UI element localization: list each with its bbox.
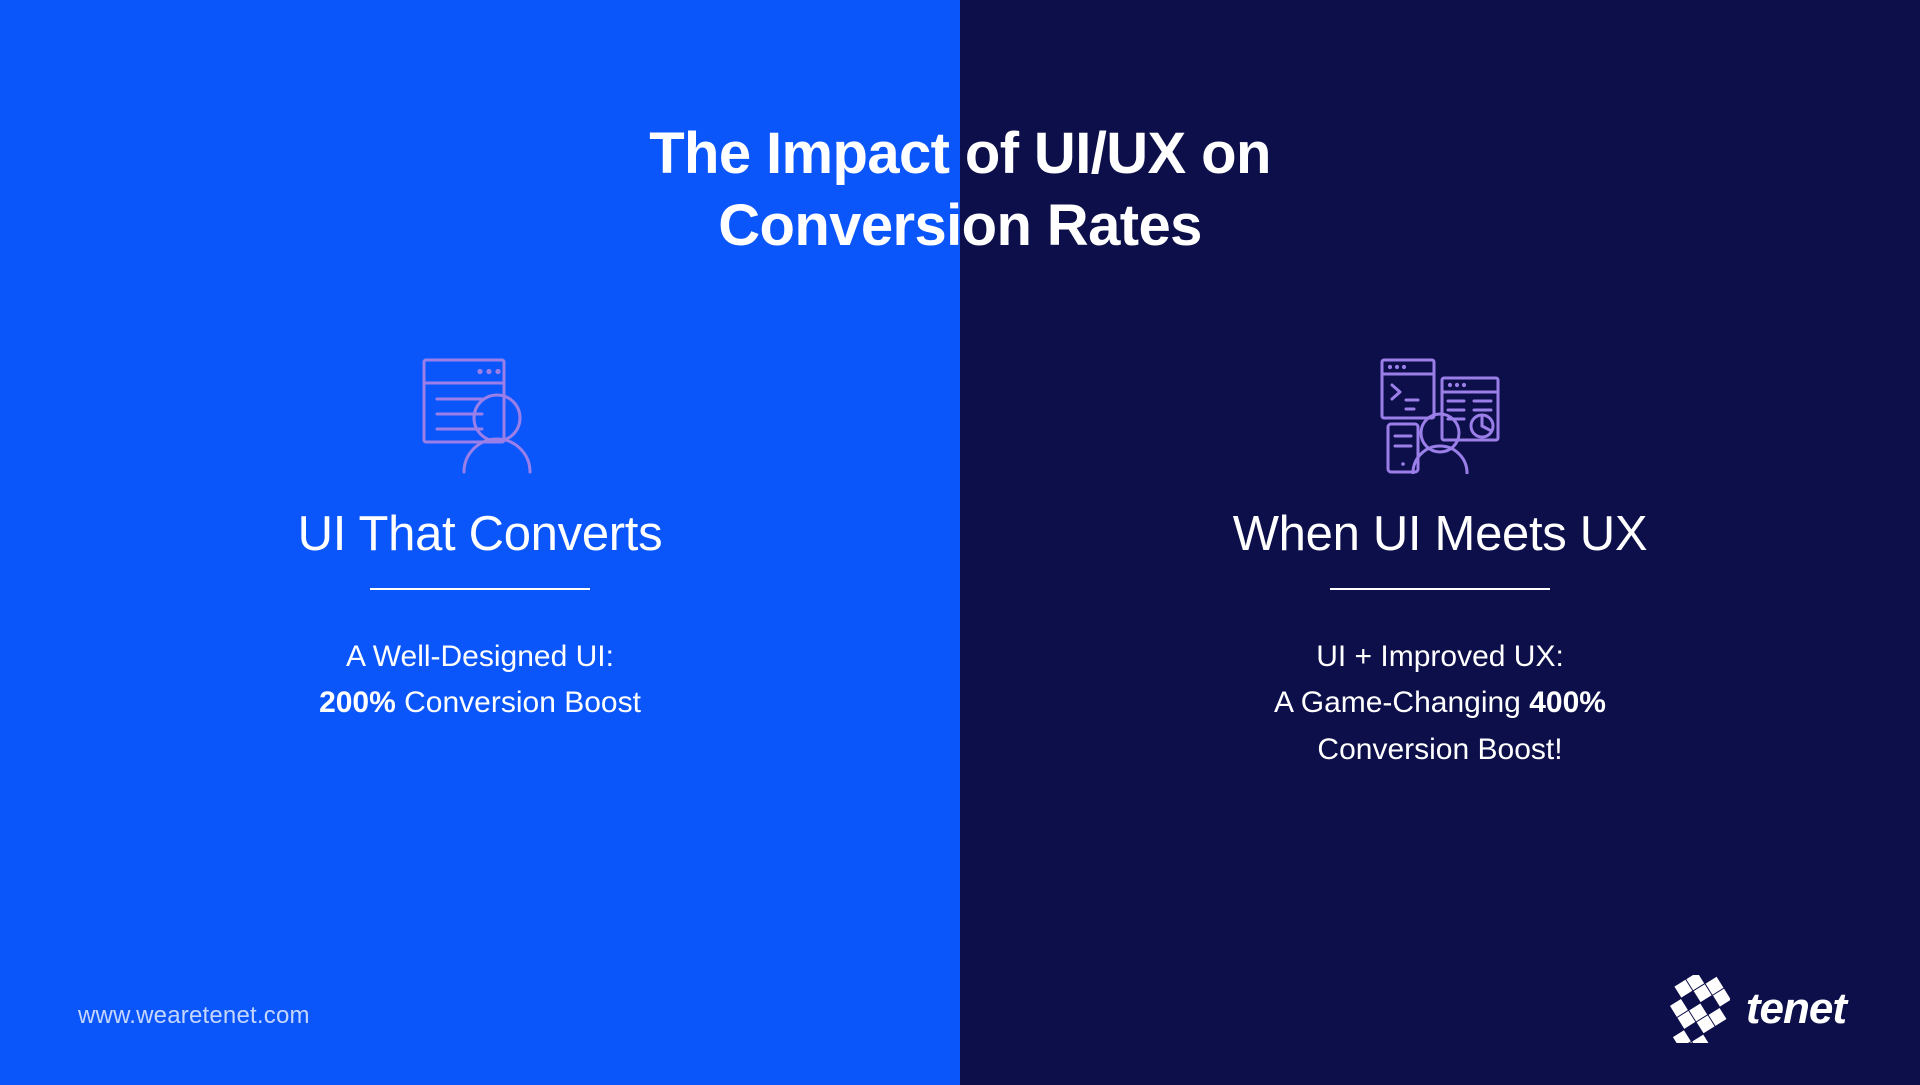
tenet-lattice-mark	[1668, 975, 1730, 1043]
body-line: UI + Improved UX:	[960, 634, 1920, 681]
column-body-right: UI + Improved UX: A Game-Changing 400% C…	[960, 634, 1920, 774]
slide-title-line-2: Conversion Rates	[0, 190, 1920, 262]
stat-label-left: Conversion Boost	[396, 686, 641, 719]
column-ui-that-converts: UI That Converts A Well-Designed UI: 200…	[0, 350, 960, 727]
heading-rule-right	[1330, 588, 1550, 590]
column-heading-right: When UI Meets UX	[960, 508, 1920, 562]
stat-prefix-right: A Game-Changing	[1274, 686, 1529, 719]
tenet-wordmark: tenet	[1746, 987, 1846, 1031]
column-body-left: A Well-Designed UI: 200% Conversion Boos…	[0, 634, 960, 727]
slide-title-line-1: The Impact of UI/UX on	[0, 118, 1920, 190]
stat-value-left: 200%	[319, 686, 396, 719]
footer-website-url[interactable]: www.wearetenet.com	[78, 1002, 310, 1030]
column-when-ui-meets-ux: When UI Meets UX UI + Improved UX: A Gam…	[960, 350, 1920, 773]
ui-window-person-icon	[0, 350, 960, 480]
stat-value-right: 400%	[1529, 686, 1606, 719]
slide-canvas: The Impact of UI/UX on Conversion Rates	[0, 0, 1920, 1085]
ux-dashboard-terminal-person-icon	[960, 350, 1920, 480]
body-line: A Well-Designed UI:	[0, 634, 960, 681]
heading-rule-left	[370, 588, 590, 590]
body-line-stat: A Game-Changing 400%	[960, 680, 1920, 727]
tenet-logo[interactable]: tenet	[1668, 975, 1846, 1043]
slide-title: The Impact of UI/UX on Conversion Rates	[0, 118, 1920, 262]
stat-label-right: Conversion Boost!	[960, 727, 1920, 774]
body-line-stat: 200% Conversion Boost	[0, 680, 960, 727]
column-heading-left: UI That Converts	[0, 508, 960, 562]
